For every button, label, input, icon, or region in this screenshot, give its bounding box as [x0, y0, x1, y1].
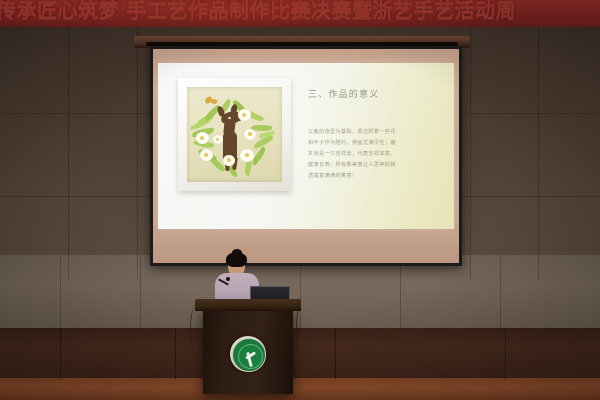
flower-center — [242, 113, 246, 117]
podium-top — [195, 299, 301, 311]
slide-body-line: 本身是一只吉祥兽，代表吉祥如意、 — [308, 149, 440, 160]
slide-heading: 三、作品的意义 — [308, 87, 379, 100]
event-banner-text: 传承匠心筑梦 手工艺作品制作比赛决赛暨浙艺手艺活动周 — [0, 0, 600, 23]
flower-center — [216, 138, 219, 141]
flower-center — [227, 158, 231, 162]
projector-screen: 三、作品的意义 以鹿的造型为基础，周边附着一些花 和叶子作为陪衬，使画尤满灵性；… — [150, 46, 462, 266]
cable — [190, 306, 201, 354]
presentation-slide: 三、作品的意义 以鹿的造型为基础，周边附着一些花 和叶子作为陪衬，使画尤满灵性；… — [158, 63, 454, 229]
presenter-hair — [226, 252, 247, 267]
screen-blank-area — [153, 243, 459, 263]
crest-ring — [232, 338, 266, 372]
crest-inner — [238, 344, 263, 369]
slide-body-line: 健康长寿；所有着美丽让人思神的独 — [308, 160, 440, 171]
stage-floor — [0, 378, 600, 400]
artwork-mat — [187, 87, 282, 182]
event-banner: 传承匠心筑梦 手工艺作品制作比赛决赛暨浙艺手艺活动周 — [0, 0, 600, 27]
slide-body-line: 和叶子作为陪衬，使画尤满灵性；鹿 — [308, 138, 440, 149]
auditorium-scene: 传承匠心筑梦 手工艺作品制作比赛决赛暨浙艺手艺活动周 — [0, 0, 600, 400]
slide-body-line: 以鹿的造型为基础，周边附着一些花 — [308, 127, 440, 138]
deer-eye — [228, 117, 231, 119]
microphone-icon — [226, 277, 230, 281]
school-crest-icon — [230, 336, 266, 372]
flower-center — [204, 153, 208, 157]
screen-surface: 三、作品的意义 以鹿的造型为基础，周边附着一些花 和叶子作为陪衬，使画尤满灵性；… — [153, 49, 459, 263]
flower-center — [245, 153, 249, 157]
podium — [203, 308, 293, 394]
slide-body-line: 透露富满满的寓意！ — [308, 171, 440, 182]
slide-body-text: 以鹿的造型为基础，周边附着一些花 和叶子作为陪衬，使画尤满灵性；鹿 本身是一只吉… — [308, 127, 440, 182]
artwork-photo — [178, 78, 291, 191]
flower-center — [200, 136, 204, 140]
flower-center — [248, 132, 252, 136]
cable — [296, 300, 309, 360]
